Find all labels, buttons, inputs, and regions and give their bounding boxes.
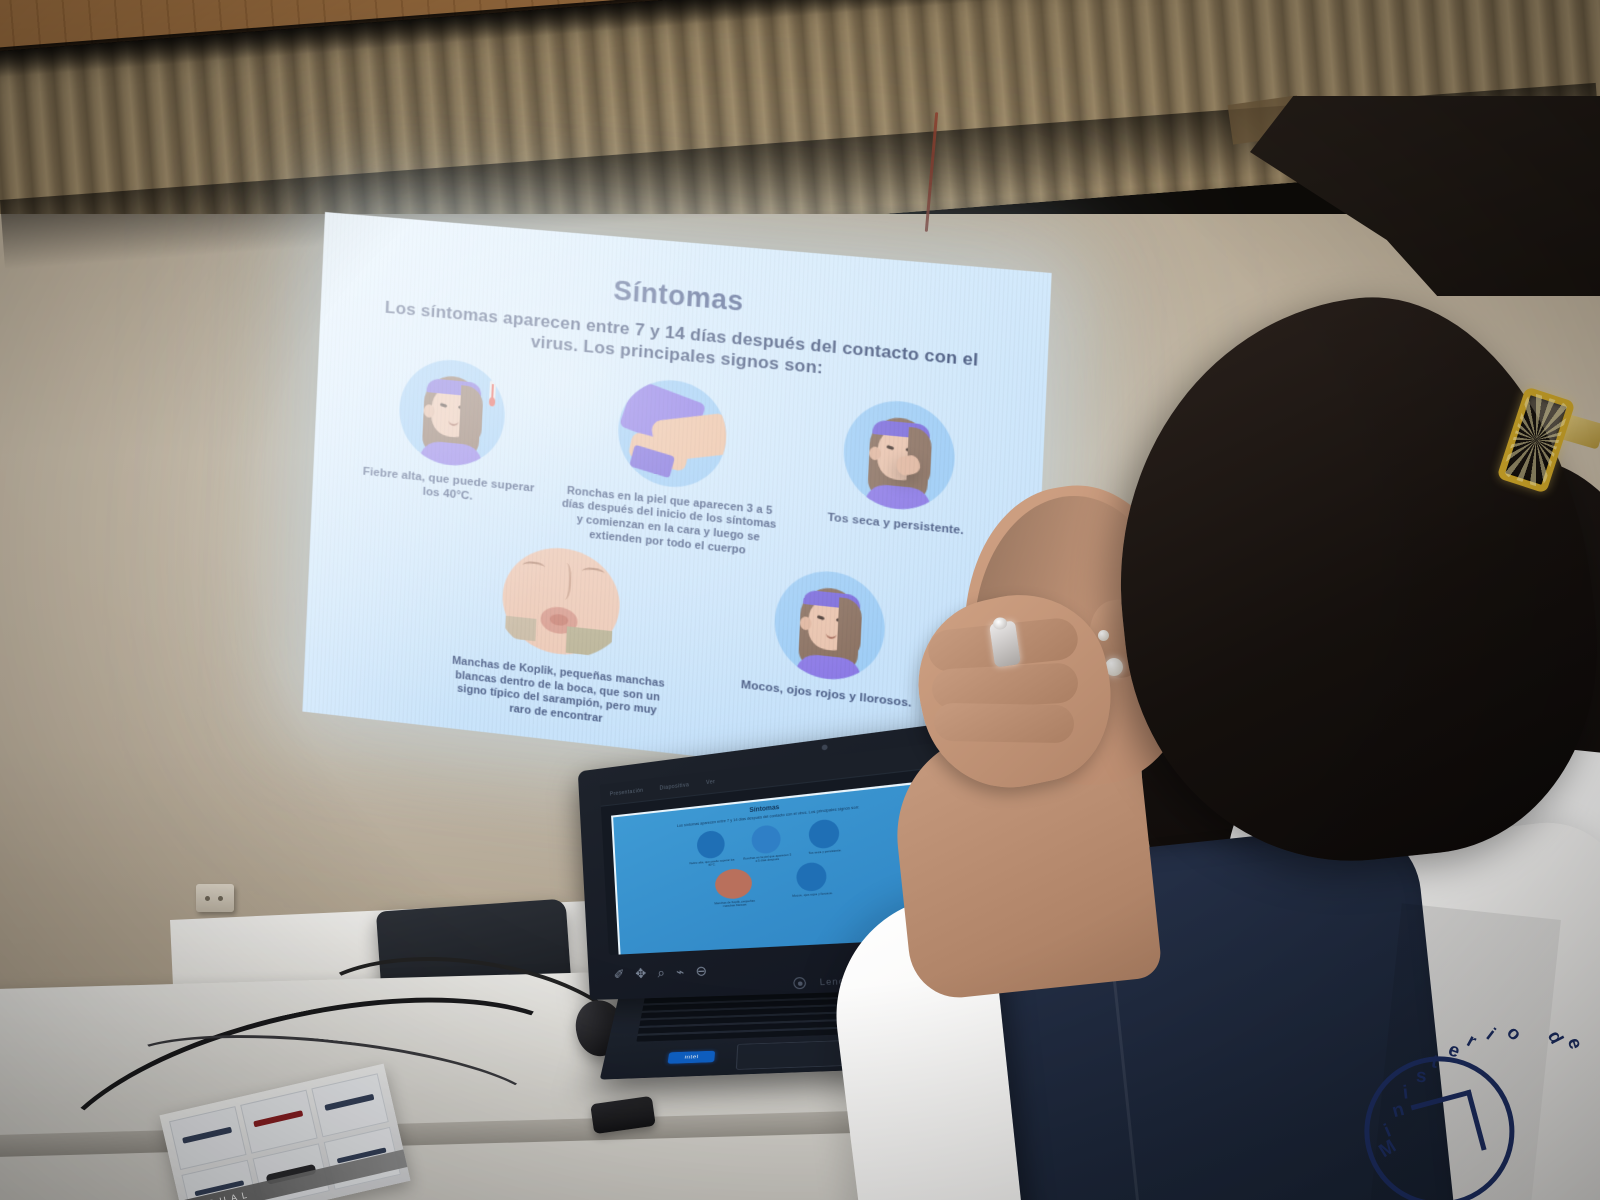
logo-char: s xyxy=(1415,1066,1427,1088)
mini-symptom-rash: Ronchas en la piel que aparecen 3 a 5 dí… xyxy=(741,823,792,865)
mini-cap-rash: Ronchas en la piel que aparecen 3 a 5 dí… xyxy=(743,853,792,865)
mini-arm-rash-icon xyxy=(751,824,781,855)
mini-symptom-cough: Tos seca y persistente. xyxy=(798,817,851,860)
open-mouth-koplik-icon xyxy=(492,537,630,665)
logo-char: t xyxy=(1429,1051,1440,1074)
mini-cap-cough: Tos seca y persistente. xyxy=(800,848,851,856)
mini-cap-koplik: Manchas de Koplik, pequeñas manchas blan… xyxy=(711,899,759,910)
logo-char: r xyxy=(1463,1030,1480,1053)
brochure-cell xyxy=(240,1090,317,1154)
room-scene: Síntomas Los síntomas aparecen entre 7 y… xyxy=(0,0,1600,1200)
search-icon[interactable]: ⌕ xyxy=(657,965,665,982)
symptom-fever-caption: Fiebre alta, que puede superar los 40°C. xyxy=(357,464,540,512)
presentation-toolbar[interactable]: ✐ ✥ ⌕ ⌁ ⊖ xyxy=(613,963,707,983)
mini-girl-thermometer-icon xyxy=(696,829,725,859)
webcam-icon xyxy=(822,744,828,750)
symptom-koplik-caption: Manchas de Koplik, pequeñas manchas blan… xyxy=(446,654,669,734)
app-tab-presentacion[interactable]: Presentación xyxy=(610,787,644,797)
pearl-earring-small xyxy=(1098,630,1109,641)
app-tab-ver[interactable]: Ver xyxy=(706,778,716,785)
pen-icon[interactable]: ✐ xyxy=(613,966,625,983)
power-icon xyxy=(793,977,806,989)
app-tab-diapositiva[interactable]: Diapositiva xyxy=(659,781,689,791)
mini-symptom-koplik: Manchas de Koplik, pequeñas manchas blan… xyxy=(709,867,759,910)
arm-rash-icon xyxy=(616,375,729,491)
mini-symptom-runny: Mocos, ojos rojos y llorosos. xyxy=(785,860,838,904)
mini-cap-fever: Fiebre alta, que puede superar los 40°C. xyxy=(689,858,736,869)
symptom-fever: Fiebre alta, que puede superar los 40°C. xyxy=(357,351,545,511)
brochure-cell xyxy=(311,1073,388,1137)
intel-sticker: intel xyxy=(668,1051,716,1064)
mini-girl-cough-icon xyxy=(808,818,840,849)
options-icon[interactable]: ⊖ xyxy=(695,963,707,980)
symptom-koplik: Manchas de Koplik, pequeñas manchas blan… xyxy=(446,533,674,734)
laser-icon[interactable]: ⌁ xyxy=(676,964,685,981)
logo-char: i xyxy=(1482,1025,1500,1046)
symptom-rash: Ronchas en la piel que aparecen 3 a 5 dí… xyxy=(556,370,787,562)
mini-girl-watery-icon xyxy=(796,861,828,892)
finger xyxy=(934,703,1075,743)
girl-watery-eyes-icon xyxy=(772,566,887,685)
pointer-icon[interactable]: ✥ xyxy=(635,965,647,982)
seated-health-worker: Ministerio de xyxy=(900,300,1600,1200)
girl-with-thermometer-icon xyxy=(397,355,507,470)
logo-char: e xyxy=(1445,1039,1463,1063)
mini-koplik-icon xyxy=(714,867,752,899)
logo-char: i xyxy=(1402,1082,1410,1104)
symptom-runny-nose: Mocos, ojos rojos y llorosos. xyxy=(731,562,927,713)
wall-socket xyxy=(196,884,234,912)
symptom-runny-caption: Mocos, ojos rojos y llorosos. xyxy=(731,677,922,713)
mini-symptom-fever: Fiebre alta, que puede superar los 40°C. xyxy=(687,828,736,869)
mini-cap-runny: Mocos, ojos rojos y llorosos. xyxy=(787,891,838,898)
brochure-cell xyxy=(169,1106,246,1170)
